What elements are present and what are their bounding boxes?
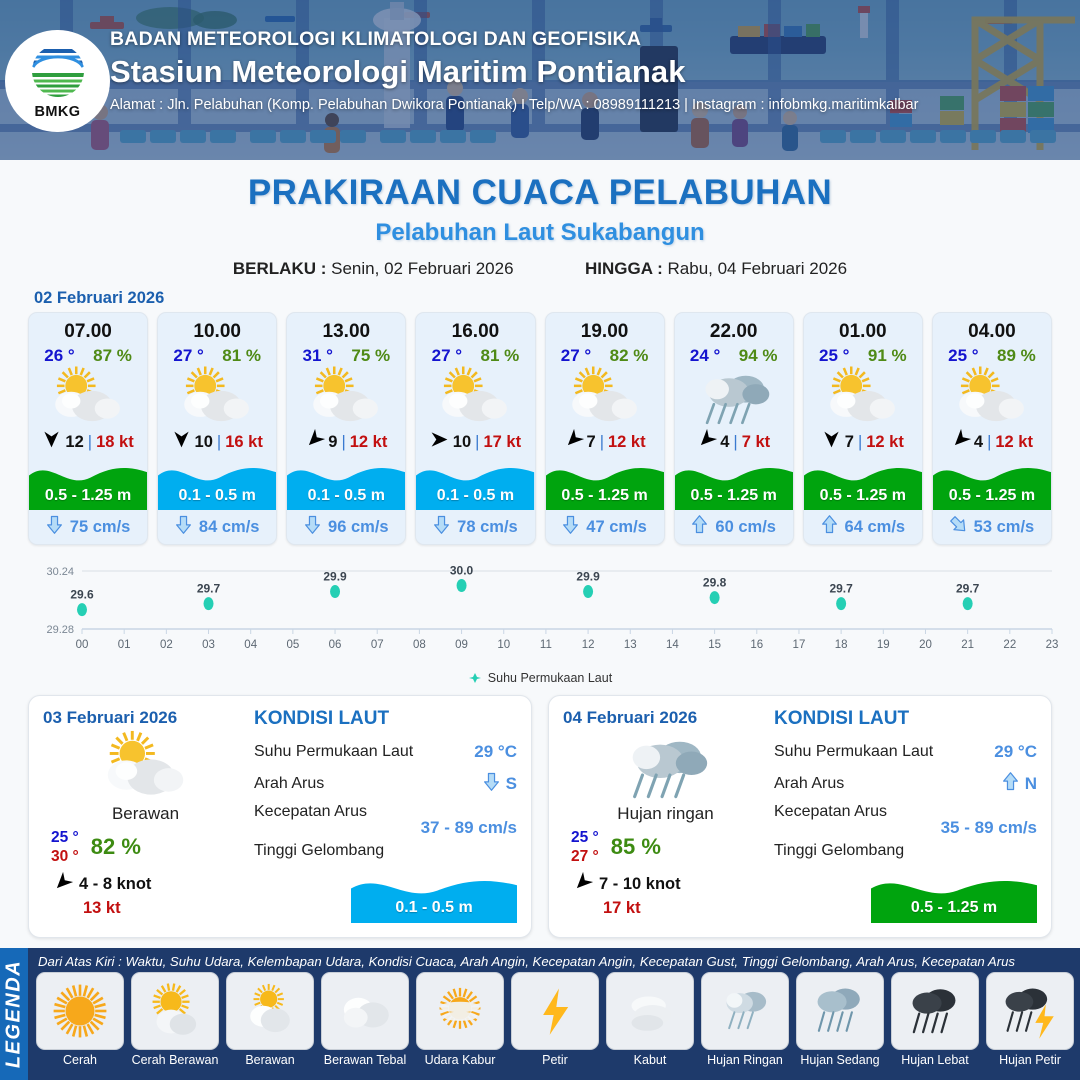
legend-item-label: Berawan Tebal bbox=[321, 1053, 409, 1067]
card-wave-height: 0.1 - 0.5 m bbox=[287, 456, 405, 510]
weather-partly-cloudy-icon bbox=[933, 366, 1051, 428]
sea-row-label: Kecepatan Arus bbox=[774, 803, 887, 821]
page-subtitle: Pelabuhan Laut Sukabangun bbox=[0, 219, 1080, 247]
wind-direction-arrow-icon bbox=[53, 873, 72, 897]
card-time: 04.00 bbox=[933, 313, 1051, 343]
hourly-forecast-row: 07.00 26 ° 87 % 12 | 18 kt 0.5 - 1.25 m bbox=[0, 312, 1080, 545]
card-current: 60 cm/s bbox=[675, 510, 793, 544]
bmkg-logo-text: BMKG bbox=[35, 104, 81, 120]
card-wave-label: 0.5 - 1.25 m bbox=[546, 487, 664, 505]
card-current: 53 cm/s bbox=[933, 510, 1051, 544]
legend-fog-icon bbox=[606, 972, 694, 1050]
legend-haze-icon bbox=[416, 972, 504, 1050]
hourly-forecast-card: 19.00 27 ° 82 % 7 | 12 kt 0.5 - 1.25 m bbox=[545, 312, 665, 545]
card-current-speed: 64 cm/s bbox=[845, 518, 906, 537]
card-humidity: 75 % bbox=[351, 346, 390, 366]
daily-left: 03 Februari 2026 Berawan 25 ° 30 ° 82 % … bbox=[43, 708, 248, 925]
card-time: 01.00 bbox=[804, 313, 922, 343]
current-direction-arrow-icon bbox=[46, 515, 63, 539]
svg-text:13: 13 bbox=[624, 639, 637, 651]
card-gust-speed: 12 kt bbox=[866, 433, 904, 452]
sea-row-label: Tinggi Gelombang bbox=[774, 842, 904, 860]
berlaku-value: Senin, 02 Februari 2026 bbox=[331, 259, 513, 278]
svg-text:11: 11 bbox=[540, 639, 552, 651]
wind-direction-arrow-icon bbox=[42, 430, 61, 454]
svg-text:14: 14 bbox=[666, 639, 679, 651]
sea-conditions-title: KONDISI LAUT bbox=[774, 708, 1037, 730]
sea-row-label: Tinggi Gelombang bbox=[254, 842, 384, 860]
legend-item-label: Kabut bbox=[606, 1053, 694, 1067]
weather-partly-cloudy-icon bbox=[804, 366, 922, 428]
current-direction-arrow-icon bbox=[175, 515, 192, 539]
card-wind-speed: 12 bbox=[65, 433, 83, 452]
legend-item: Kabut bbox=[606, 972, 694, 1067]
card-humidity: 87 % bbox=[93, 346, 132, 366]
header-text-block: BADAN METEOROLOGI KLIMATOLOGI DAN GEOFIS… bbox=[110, 28, 918, 113]
daily-wave-label: 0.1 - 0.5 m bbox=[351, 899, 517, 917]
legend-item: Udara Kabur bbox=[416, 972, 504, 1067]
card-humidity: 89 % bbox=[997, 346, 1036, 366]
svg-text:29.7: 29.7 bbox=[829, 582, 853, 596]
daily-wind-range: 7 - 10 knot bbox=[599, 875, 681, 894]
svg-text:07: 07 bbox=[371, 639, 384, 651]
card-wind-speed: 10 bbox=[195, 433, 213, 452]
daily-sea-conditions: KONDISI LAUT Suhu Permukaan Laut 29 °C A… bbox=[768, 708, 1037, 925]
station-address: Alamat : Jln. Pelabuhan (Komp. Pelabuhan… bbox=[110, 97, 918, 113]
daily-wind: 7 - 10 knot bbox=[573, 873, 768, 897]
sst-chart: 30.2429.28000102030405060708091011121314… bbox=[20, 557, 1060, 669]
card-separator: | bbox=[733, 433, 737, 452]
svg-text:23: 23 bbox=[1046, 639, 1059, 651]
card-time: 13.00 bbox=[287, 313, 405, 343]
bmkg-logo: BMKG bbox=[5, 30, 110, 132]
card-air-temperature: 25 ° bbox=[819, 346, 849, 366]
daily-date: 04 Februari 2026 bbox=[563, 708, 768, 728]
card-wave-label: 0.1 - 0.5 m bbox=[287, 487, 405, 505]
svg-text:04: 04 bbox=[244, 639, 257, 651]
card-gust-speed: 12 kt bbox=[350, 433, 388, 452]
daily-temp-max: 30 ° bbox=[51, 847, 79, 866]
card-humidity: 91 % bbox=[868, 346, 907, 366]
hourly-forecast-card: 22.00 24 ° 94 % 4 | 7 kt 0.5 - 1.25 m bbox=[674, 312, 794, 545]
daily-left: 04 Februari 2026 Hujan ringan 25 ° 27 ° … bbox=[563, 708, 768, 925]
legend-item: Berawan bbox=[226, 972, 314, 1067]
card-wind: 10 | 16 kt bbox=[158, 428, 276, 456]
current-direction-arrow-icon bbox=[950, 515, 967, 539]
legend-item: Hujan Ringan bbox=[701, 972, 789, 1067]
legend-overcast-icon bbox=[321, 972, 409, 1050]
weather-partly-cloudy-icon bbox=[416, 366, 534, 428]
svg-text:29.6: 29.6 bbox=[70, 588, 94, 602]
svg-text:10: 10 bbox=[497, 639, 510, 651]
organization-name: BADAN METEOROLOGI KLIMATOLOGI DAN GEOFIS… bbox=[110, 28, 918, 51]
svg-text:29.8: 29.8 bbox=[703, 576, 727, 590]
current-direction-text: N bbox=[1025, 774, 1037, 794]
card-wave-label: 0.1 - 0.5 m bbox=[158, 487, 276, 505]
hingga-value: Rabu, 04 Februari 2026 bbox=[668, 259, 848, 278]
svg-text:29.28: 29.28 bbox=[46, 624, 74, 636]
svg-text:21: 21 bbox=[961, 639, 974, 651]
card-current-speed: 84 cm/s bbox=[199, 518, 260, 537]
card-wave-label: 0.5 - 1.25 m bbox=[29, 487, 147, 505]
wind-direction-arrow-icon bbox=[430, 430, 449, 454]
daily-temperatures: 25 ° 30 ° 82 % bbox=[51, 828, 248, 867]
hourly-date-label: 02 Februari 2026 bbox=[34, 289, 1080, 308]
svg-text:03: 03 bbox=[202, 639, 215, 651]
chart-legend-label: Suhu Permukaan Laut bbox=[488, 671, 612, 685]
card-values: 27 ° 81 % bbox=[158, 343, 276, 366]
legend-item: Berawan Tebal bbox=[321, 972, 409, 1067]
legend-heavy-rain-icon bbox=[891, 972, 979, 1050]
sea-row-value: S bbox=[483, 772, 517, 796]
wind-direction-arrow-icon bbox=[822, 430, 841, 454]
card-values: 31 ° 75 % bbox=[287, 343, 405, 366]
card-air-temperature: 31 ° bbox=[302, 346, 332, 366]
svg-text:30.0: 30.0 bbox=[450, 564, 474, 578]
svg-text:01: 01 bbox=[118, 639, 131, 651]
daily-temp-min: 25 ° bbox=[571, 828, 599, 847]
sea-row-label: Suhu Permukaan Laut bbox=[774, 743, 933, 761]
card-air-temperature: 25 ° bbox=[948, 346, 978, 366]
card-wave-height: 0.1 - 0.5 m bbox=[416, 456, 534, 510]
card-wave-label: 0.5 - 1.25 m bbox=[675, 487, 793, 505]
card-current: 47 cm/s bbox=[546, 510, 664, 544]
svg-text:06: 06 bbox=[329, 639, 342, 651]
svg-text:16: 16 bbox=[750, 639, 763, 651]
svg-text:02: 02 bbox=[160, 639, 173, 651]
legend-item-label: Berawan bbox=[226, 1053, 314, 1067]
card-separator: | bbox=[217, 433, 221, 452]
legend-item-label: Cerah bbox=[36, 1053, 124, 1067]
card-wind-speed: 10 bbox=[453, 433, 471, 452]
hourly-forecast-card: 13.00 31 ° 75 % 9 | 12 kt 0.1 - 0.5 m bbox=[286, 312, 406, 545]
card-values: 24 ° 94 % bbox=[675, 343, 793, 366]
sea-row-label: Kecepatan Arus bbox=[254, 803, 367, 821]
sea-row-label: Suhu Permukaan Laut bbox=[254, 743, 413, 761]
card-wave-height: 0.5 - 1.25 m bbox=[675, 456, 793, 510]
card-current: 64 cm/s bbox=[804, 510, 922, 544]
card-separator: | bbox=[88, 433, 92, 452]
svg-text:08: 08 bbox=[413, 639, 426, 651]
card-separator: | bbox=[858, 433, 862, 452]
sea-row: Suhu Permukaan Laut 29 °C bbox=[774, 736, 1037, 768]
daily-sea-conditions: KONDISI LAUT Suhu Permukaan Laut 29 °C A… bbox=[248, 708, 517, 925]
legend-cloudy-icon bbox=[226, 972, 314, 1050]
card-wave-label: 0.5 - 1.25 m bbox=[804, 487, 922, 505]
daily-forecast-panel: 03 Februari 2026 Berawan 25 ° 30 ° 82 % … bbox=[28, 695, 532, 938]
legend-section: LEGENDA Dari Atas Kiri : Waktu, Suhu Uda… bbox=[0, 948, 1080, 1080]
daily-date: 03 Februari 2026 bbox=[43, 708, 248, 728]
card-air-temperature: 26 ° bbox=[44, 346, 74, 366]
wind-direction-arrow-icon bbox=[951, 430, 970, 454]
current-direction-arrow-icon bbox=[562, 515, 579, 539]
svg-text:05: 05 bbox=[286, 639, 299, 651]
card-gust-speed: 17 kt bbox=[483, 433, 521, 452]
svg-text:22: 22 bbox=[1003, 639, 1016, 651]
card-current: 75 cm/s bbox=[29, 510, 147, 544]
sea-row-value: 29 °C bbox=[474, 742, 517, 762]
daily-temp-min: 25 ° bbox=[51, 828, 79, 847]
weather-partly-cloudy-icon bbox=[158, 366, 276, 428]
card-time: 07.00 bbox=[29, 313, 147, 343]
daily-humidity: 82 % bbox=[91, 834, 141, 860]
legend-thunderstorm-icon bbox=[986, 972, 1074, 1050]
hourly-forecast-card: 07.00 26 ° 87 % 12 | 18 kt 0.5 - 1.25 m bbox=[28, 312, 148, 545]
wind-direction-arrow-icon bbox=[305, 430, 324, 454]
legend-note: Dari Atas Kiri : Waktu, Suhu Udara, Kele… bbox=[36, 952, 1074, 972]
svg-text:09: 09 bbox=[455, 639, 468, 651]
card-gust-speed: 12 kt bbox=[608, 433, 646, 452]
svg-text:17: 17 bbox=[793, 639, 806, 651]
card-current-speed: 53 cm/s bbox=[974, 518, 1035, 537]
legend-thunder-icon bbox=[511, 972, 599, 1050]
card-wind: 4 | 7 kt bbox=[675, 428, 793, 456]
svg-text:19: 19 bbox=[877, 639, 890, 651]
daily-wave-label: 0.5 - 1.25 m bbox=[871, 899, 1037, 917]
card-wave-height: 0.5 - 1.25 m bbox=[804, 456, 922, 510]
current-direction-arrow-icon bbox=[433, 515, 450, 539]
card-wind: 9 | 12 kt bbox=[287, 428, 405, 456]
svg-text:30.24: 30.24 bbox=[46, 566, 74, 578]
station-name: Stasiun Meteorologi Maritim Pontianak bbox=[110, 54, 918, 90]
card-current: 84 cm/s bbox=[158, 510, 276, 544]
card-wave-label: 0.5 - 1.25 m bbox=[933, 487, 1051, 505]
daily-wave-height: 0.1 - 0.5 m bbox=[351, 861, 517, 923]
legend-item-label: Hujan Sedang bbox=[796, 1053, 884, 1067]
berlaku-label: BERLAKU : bbox=[233, 259, 327, 278]
hourly-forecast-card: 10.00 27 ° 81 % 10 | 16 kt 0.1 - 0.5 m bbox=[157, 312, 277, 545]
legend-item-label: Hujan Petir bbox=[986, 1053, 1074, 1067]
card-time: 22.00 bbox=[675, 313, 793, 343]
card-wave-height: 0.5 - 1.25 m bbox=[546, 456, 664, 510]
daily-forecast-panels: 03 Februari 2026 Berawan 25 ° 30 ° 82 % … bbox=[0, 685, 1080, 938]
hourly-forecast-card: 16.00 27 ° 81 % 10 | 17 kt 0.1 - 0.5 m bbox=[415, 312, 535, 545]
daily-gust: 17 kt bbox=[603, 899, 768, 918]
card-wind: 10 | 17 kt bbox=[416, 428, 534, 456]
daily-condition: Berawan bbox=[43, 804, 248, 824]
svg-text:15: 15 bbox=[708, 639, 721, 651]
legend-body: Dari Atas Kiri : Waktu, Suhu Udara, Kele… bbox=[28, 948, 1080, 1080]
card-wave-height: 0.1 - 0.5 m bbox=[158, 456, 276, 510]
daily-forecast-panel: 04 Februari 2026 Hujan ringan 25 ° 27 ° … bbox=[548, 695, 1052, 938]
svg-text:18: 18 bbox=[835, 639, 848, 651]
weather-partly-cloudy-icon bbox=[43, 730, 248, 802]
weather-partly-cloudy-icon bbox=[287, 366, 405, 428]
legend-marker-icon bbox=[468, 672, 482, 684]
card-separator: | bbox=[475, 433, 479, 452]
card-humidity: 81 % bbox=[222, 346, 261, 366]
page-title: PRAKIRAAN CUACA PELABUHAN bbox=[0, 173, 1080, 213]
hingga-label: HINGGA : bbox=[585, 259, 663, 278]
card-time: 10.00 bbox=[158, 313, 276, 343]
card-separator: | bbox=[987, 433, 991, 452]
hourly-forecast-card: 01.00 25 ° 91 % 7 | 12 kt 0.5 - 1.25 m bbox=[803, 312, 923, 545]
card-wind: 12 | 18 kt bbox=[29, 428, 147, 456]
card-air-temperature: 27 ° bbox=[561, 346, 591, 366]
sea-row-value: 29 °C bbox=[994, 742, 1037, 762]
card-current: 78 cm/s bbox=[416, 510, 534, 544]
svg-text:29.9: 29.9 bbox=[576, 570, 600, 584]
current-direction-arrow-icon bbox=[304, 515, 321, 539]
weather-light-rain-icon bbox=[675, 366, 793, 428]
sst-chart-svg: 30.2429.28000102030405060708091011121314… bbox=[20, 557, 1060, 669]
legend-moderate-rain-icon bbox=[796, 972, 884, 1050]
svg-text:00: 00 bbox=[76, 639, 89, 651]
card-air-temperature: 27 ° bbox=[432, 346, 462, 366]
card-values: 27 ° 82 % bbox=[546, 343, 664, 366]
infographic-page: BMKG BADAN METEOROLOGI KLIMATOLOGI DAN G… bbox=[0, 0, 1080, 1080]
legend-light-rain-icon bbox=[701, 972, 789, 1050]
card-values: 25 ° 89 % bbox=[933, 343, 1051, 366]
card-time: 16.00 bbox=[416, 313, 534, 343]
current-direction-arrow-icon bbox=[821, 515, 838, 539]
daily-wind-range: 4 - 8 knot bbox=[79, 875, 151, 894]
card-wind: 4 | 12 kt bbox=[933, 428, 1051, 456]
daily-temp-max: 27 ° bbox=[571, 847, 599, 866]
svg-text:29.9: 29.9 bbox=[323, 570, 347, 584]
weather-light-rain-icon bbox=[563, 730, 768, 802]
card-gust-speed: 12 kt bbox=[995, 433, 1033, 452]
card-air-temperature: 27 ° bbox=[173, 346, 203, 366]
card-current-speed: 96 cm/s bbox=[328, 518, 389, 537]
validity-period: BERLAKU : Senin, 02 Februari 2026 HINGGA… bbox=[0, 259, 1080, 279]
card-humidity: 81 % bbox=[481, 346, 520, 366]
card-current: 96 cm/s bbox=[287, 510, 405, 544]
card-current-speed: 78 cm/s bbox=[457, 518, 518, 537]
card-wind-speed: 7 bbox=[587, 433, 596, 452]
page-header: BMKG BADAN METEOROLOGI KLIMATOLOGI DAN G… bbox=[0, 0, 1080, 160]
current-direction-text: S bbox=[506, 774, 517, 794]
legend-item-label: Petir bbox=[511, 1053, 599, 1067]
weather-partly-cloudy-icon bbox=[29, 366, 147, 428]
card-current-speed: 60 cm/s bbox=[715, 518, 776, 537]
sea-row-label: Arah Arus bbox=[774, 775, 844, 793]
legend-sunny-icon bbox=[36, 972, 124, 1050]
current-direction-arrow-icon bbox=[1002, 772, 1019, 796]
sea-row: Arah Arus S bbox=[254, 768, 517, 800]
legend-item: Cerah bbox=[36, 972, 124, 1067]
sea-row: Suhu Permukaan Laut 29 °C bbox=[254, 736, 517, 768]
card-wave-height: 0.5 - 1.25 m bbox=[933, 456, 1051, 510]
chart-legend: Suhu Permukaan Laut bbox=[0, 671, 1080, 685]
card-values: 25 ° 91 % bbox=[804, 343, 922, 366]
card-humidity: 82 % bbox=[610, 346, 649, 366]
card-wind: 7 | 12 kt bbox=[804, 428, 922, 456]
card-air-temperature: 24 ° bbox=[690, 346, 720, 366]
card-wind-speed: 4 bbox=[974, 433, 983, 452]
current-speed-value: 35 - 89 cm/s bbox=[774, 818, 1037, 838]
daily-condition: Hujan ringan bbox=[563, 804, 768, 824]
daily-humidity: 85 % bbox=[611, 834, 661, 860]
hourly-forecast-card: 04.00 25 ° 89 % 4 | 12 kt 0.5 - 1.25 m bbox=[932, 312, 1052, 545]
card-separator: | bbox=[600, 433, 604, 452]
card-wind: 7 | 12 kt bbox=[546, 428, 664, 456]
card-wind-speed: 7 bbox=[845, 433, 854, 452]
legend-side-bar: LEGENDA bbox=[0, 948, 28, 1080]
card-wave-height: 0.5 - 1.25 m bbox=[29, 456, 147, 510]
legend-side-label: LEGENDA bbox=[3, 960, 26, 1068]
daily-temperatures: 25 ° 27 ° 85 % bbox=[571, 828, 768, 867]
weather-partly-cloudy-icon bbox=[546, 366, 664, 428]
card-values: 26 ° 87 % bbox=[29, 343, 147, 366]
wind-direction-arrow-icon bbox=[697, 430, 716, 454]
wind-direction-arrow-icon bbox=[172, 430, 191, 454]
svg-text:12: 12 bbox=[582, 639, 595, 651]
bmkg-logo-mark bbox=[27, 43, 89, 103]
legend-item: Hujan Petir bbox=[986, 972, 1074, 1067]
legend-item-label: Udara Kabur bbox=[416, 1053, 504, 1067]
card-gust-speed: 7 kt bbox=[742, 433, 770, 452]
sea-row-value: N bbox=[1002, 772, 1037, 796]
sea-row: Arah Arus N bbox=[774, 768, 1037, 800]
legend-item: Petir bbox=[511, 972, 599, 1067]
card-gust-speed: 18 kt bbox=[96, 433, 134, 452]
legend-item-label: Hujan Lebat bbox=[891, 1053, 979, 1067]
card-wind-speed: 4 bbox=[720, 433, 729, 452]
current-speed-value: 37 - 89 cm/s bbox=[254, 818, 517, 838]
wind-direction-arrow-icon bbox=[564, 430, 583, 454]
legend-item: Hujan Lebat bbox=[891, 972, 979, 1067]
card-values: 27 ° 81 % bbox=[416, 343, 534, 366]
current-direction-arrow-icon bbox=[691, 515, 708, 539]
current-direction-arrow-icon bbox=[483, 772, 500, 796]
card-current-speed: 75 cm/s bbox=[70, 518, 131, 537]
card-humidity: 94 % bbox=[739, 346, 778, 366]
sea-conditions-title: KONDISI LAUT bbox=[254, 708, 517, 730]
card-wind-speed: 9 bbox=[328, 433, 337, 452]
svg-text:29.7: 29.7 bbox=[197, 582, 221, 596]
legend-sunny-cloudy-icon bbox=[131, 972, 219, 1050]
legend-item-label: Hujan Ringan bbox=[701, 1053, 789, 1067]
card-time: 19.00 bbox=[546, 313, 664, 343]
wind-direction-arrow-icon bbox=[573, 873, 592, 897]
legend-item: Cerah Berawan bbox=[131, 972, 219, 1067]
legend-item-label: Cerah Berawan bbox=[131, 1053, 219, 1067]
daily-wind: 4 - 8 knot bbox=[53, 873, 248, 897]
svg-text:29.7: 29.7 bbox=[956, 582, 980, 596]
card-wave-label: 0.1 - 0.5 m bbox=[416, 487, 534, 505]
daily-wave-height: 0.5 - 1.25 m bbox=[871, 861, 1037, 923]
legend-items-row: Cerah Cerah Berawan Berawan Berawan Teba… bbox=[36, 972, 1074, 1067]
daily-gust: 13 kt bbox=[83, 899, 248, 918]
legend-item: Hujan Sedang bbox=[796, 972, 884, 1067]
title-block: PRAKIRAAN CUACA PELABUHAN Pelabuhan Laut… bbox=[0, 160, 1080, 279]
sea-row-label: Arah Arus bbox=[254, 775, 324, 793]
card-separator: | bbox=[341, 433, 345, 452]
card-gust-speed: 16 kt bbox=[225, 433, 263, 452]
svg-text:20: 20 bbox=[919, 639, 932, 651]
card-current-speed: 47 cm/s bbox=[586, 518, 647, 537]
